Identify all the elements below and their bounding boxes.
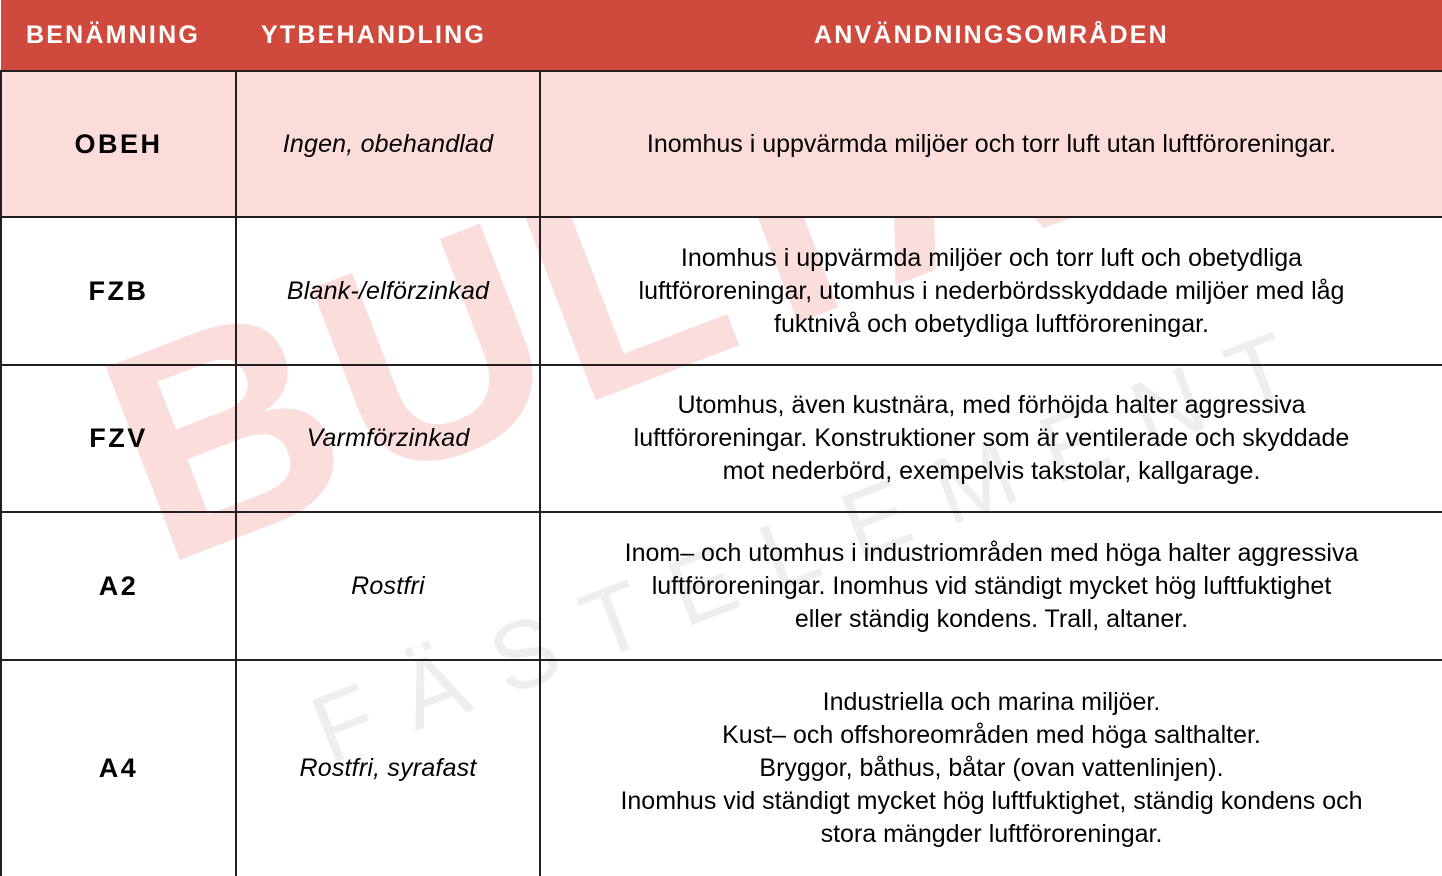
cell-designation: A4 — [1, 660, 236, 876]
cell-usage-areas: Utomhus, även kustnära, med förhöjda hal… — [540, 365, 1442, 512]
usage-line: Inomhus vid ständigt mycket hög luftfukt… — [563, 785, 1420, 818]
cell-designation: A2 — [1, 512, 236, 660]
column-header-ytbehandling: YTBEHANDLING — [236, 0, 540, 71]
column-header-anvandningsomraden: ANVÄNDNINGSOMRÅDEN — [540, 0, 1442, 71]
table-body: OBEH Ingen, obehandlad Inomhus i uppvärm… — [1, 71, 1442, 876]
usage-line: Bryggor, båthus, båtar (ovan vattenlinje… — [563, 752, 1420, 785]
cell-designation: FZV — [1, 365, 236, 512]
usage-line: luftföroreningar. Konstruktioner som är … — [563, 422, 1420, 455]
cell-surface-treatment: Blank-/elförzinkad — [236, 217, 540, 365]
surface-treatment-table-container: BENÄMNING YTBEHANDLING ANVÄNDNINGSOMRÅDE… — [0, 0, 1442, 876]
usage-line: Kust– och offshoreområden med höga salth… — [563, 719, 1420, 752]
usage-line: mot nederbörd, exempelvis takstolar, kal… — [563, 455, 1420, 488]
cell-usage-areas: Industriella och marina miljöer. Kust– o… — [540, 660, 1442, 876]
cell-surface-treatment: Rostfri, syrafast — [236, 660, 540, 876]
cell-surface-treatment: Varmförzinkad — [236, 365, 540, 512]
usage-line: stora mängder luftföroreningar. — [563, 818, 1420, 851]
table-header: BENÄMNING YTBEHANDLING ANVÄNDNINGSOMRÅDE… — [1, 0, 1442, 71]
cell-surface-treatment: Rostfri — [236, 512, 540, 660]
table-row: OBEH Ingen, obehandlad Inomhus i uppvärm… — [1, 71, 1442, 217]
cell-usage-areas: Inom– och utomhus i industriområden med … — [540, 512, 1442, 660]
table-row: FZB Blank-/elförzinkad Inomhus i uppvärm… — [1, 217, 1442, 365]
usage-line: luftföroreningar. Inomhus vid ständigt m… — [563, 570, 1420, 603]
surface-treatment-table: BENÄMNING YTBEHANDLING ANVÄNDNINGSOMRÅDE… — [0, 0, 1442, 876]
usage-line: eller ständig kondens. Trall, altaner. — [563, 603, 1420, 636]
usage-line: Inomhus i uppvärmda miljöer och torr luf… — [563, 242, 1420, 275]
column-header-benamning: BENÄMNING — [1, 0, 236, 71]
table-header-row: BENÄMNING YTBEHANDLING ANVÄNDNINGSOMRÅDE… — [1, 0, 1442, 71]
page-root: BULTAB FÄSTELEMENT BENÄMNING YTBEHANDLIN… — [0, 0, 1442, 876]
table-row: FZV Varmförzinkad Utomhus, även kustnära… — [1, 365, 1442, 512]
usage-line: luftföroreningar, utomhus i nederbördssk… — [563, 275, 1420, 308]
cell-usage-areas: Inomhus i uppvärmda miljöer och torr luf… — [540, 217, 1442, 365]
cell-designation: FZB — [1, 217, 236, 365]
cell-surface-treatment: Ingen, obehandlad — [236, 71, 540, 217]
usage-line: Industriella och marina miljöer. — [563, 686, 1420, 719]
cell-usage-areas: Inomhus i uppvärmda miljöer och torr luf… — [540, 71, 1442, 217]
usage-line: Utomhus, även kustnära, med förhöjda hal… — [563, 389, 1420, 422]
usage-line: fuktnivå och obetydliga luftföroreningar… — [563, 308, 1420, 341]
usage-line: Inom– och utomhus i industriområden med … — [563, 537, 1420, 570]
table-row: A2 Rostfri Inom– och utomhus i industrio… — [1, 512, 1442, 660]
usage-line: Inomhus i uppvärmda miljöer och torr luf… — [563, 128, 1420, 161]
cell-designation: OBEH — [1, 71, 236, 217]
table-row: A4 Rostfri, syrafast Industriella och ma… — [1, 660, 1442, 876]
